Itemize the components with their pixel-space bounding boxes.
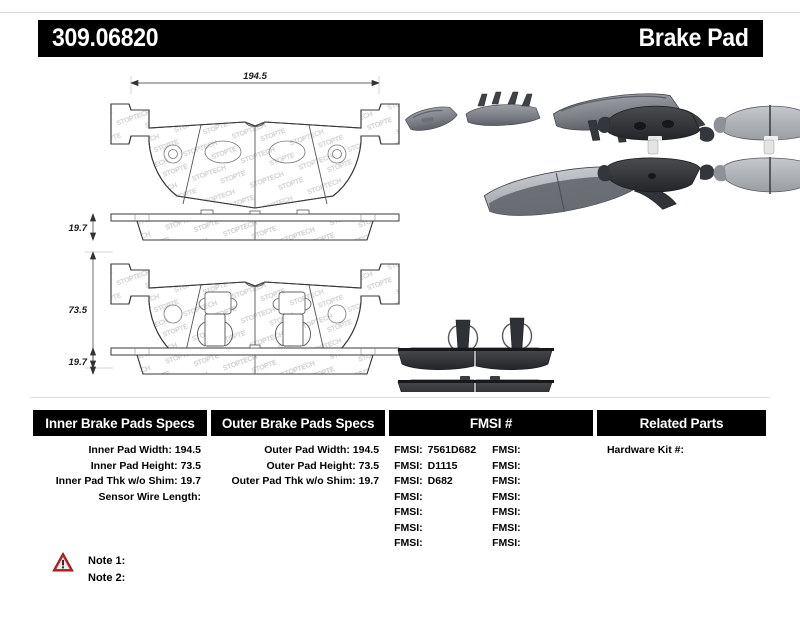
fmsi-row: FMSI:7561D682 <box>389 443 487 459</box>
fmsi-label: FMSI: <box>492 460 521 472</box>
fmsi-row: FMSI: <box>389 536 487 552</box>
fmsi-value <box>423 491 428 503</box>
column-header-outer-specs: Outer Brake Pads Specs <box>211 410 385 436</box>
fmsi-value <box>521 460 526 472</box>
fmsi-label: FMSI: <box>394 537 423 549</box>
dimension-bottom-height: 73.5 <box>69 305 88 316</box>
fmsi-row: FMSI: <box>389 505 487 521</box>
table-header-row: Inner Brake Pads Specs Outer Brake Pads … <box>33 410 766 436</box>
inner-specs-column: Inner Pad Width: 194.5 Inner Pad Height:… <box>33 443 207 552</box>
fmsi-label: FMSI: <box>492 491 521 503</box>
fmsi-column: FMSI:7561D682 FMSI:D1115 FMSI:D682 FMSI:… <box>389 443 593 552</box>
fmsi-label: FMSI: <box>492 506 521 518</box>
fmsi-row: FMSI: <box>487 443 585 459</box>
spec-sensor-wire-length: Sensor Wire Length: <box>33 490 207 506</box>
fmsi-value: D682 <box>423 475 453 487</box>
page-title: Brake Pad <box>639 24 749 53</box>
fmsi-value <box>521 522 526 534</box>
fmsi-label: FMSI: <box>394 522 423 534</box>
note-2: Note 2: <box>88 570 125 587</box>
dimension-top-width: 194.5 <box>243 71 267 82</box>
fmsi-row: FMSI:D682 <box>389 474 487 490</box>
fmsi-label: FMSI: <box>492 444 521 456</box>
fmsi-row: FMSI: <box>487 536 585 552</box>
fmsi-row: FMSI: <box>487 521 585 537</box>
fmsi-label: FMSI: <box>492 537 521 549</box>
note-text-group: Note 1: Note 2: <box>88 552 125 587</box>
spec-inner-pad-width: Inner Pad Width: 194.5 <box>33 443 207 459</box>
fmsi-row: FMSI: <box>487 474 585 490</box>
dimension-bottom-thickness: 19.7 <box>69 357 88 368</box>
fmsi-value <box>521 491 526 503</box>
spec-outer-pad-width: Outer Pad Width: 194.5 <box>211 443 385 459</box>
column-header-related-parts: Related Parts <box>597 410 766 436</box>
fmsi-value: D1115 <box>423 460 458 472</box>
spec-outer-pad-thickness: Outer Pad Thk w/o Shim: 19.7 <box>211 474 385 490</box>
note-1: Note 1: <box>88 553 125 570</box>
table-top-divider <box>30 397 770 398</box>
fmsi-value <box>521 444 526 456</box>
fmsi-value: 7561D682 <box>423 444 476 456</box>
fmsi-label: FMSI: <box>394 491 423 503</box>
fmsi-row: FMSI: <box>389 521 487 537</box>
fmsi-subcolumn-2: FMSI: FMSI: FMSI: FMSI: FMSI: FMSI: FMSI… <box>487 443 585 552</box>
fmsi-value <box>521 475 526 487</box>
fmsi-value <box>521 537 526 549</box>
warning-triangle-icon <box>52 552 74 577</box>
fmsi-label: FMSI: <box>492 475 521 487</box>
notes-section: Note 1: Note 2: <box>52 552 125 587</box>
top-divider <box>0 12 800 13</box>
related-parts-column: Hardware Kit #: <box>597 443 766 552</box>
header-bar: 309.06820 Brake Pad <box>38 20 763 57</box>
fmsi-row: FMSI: <box>487 505 585 521</box>
spec-inner-pad-thickness: Inner Pad Thk w/o Shim: 19.7 <box>33 474 207 490</box>
fmsi-row: FMSI: <box>487 459 585 475</box>
fmsi-value <box>423 537 428 549</box>
fmsi-subcolumn-1: FMSI:7561D682 FMSI:D1115 FMSI:D682 FMSI:… <box>389 443 487 552</box>
fmsi-row: FMSI: <box>389 490 487 506</box>
dimension-top-thickness: 19.7 <box>69 223 88 234</box>
spec-outer-pad-height: Outer Pad Height: 73.5 <box>211 459 385 475</box>
technical-drawings: STOPTECH STOPTECH 194.5 <box>0 62 800 392</box>
fmsi-value <box>521 506 526 518</box>
column-header-inner-specs: Inner Brake Pads Specs <box>33 410 207 436</box>
fmsi-label: FMSI: <box>394 506 423 518</box>
fmsi-label: FMSI: <box>394 475 423 487</box>
fmsi-label: FMSI: <box>394 444 423 456</box>
fmsi-label: FMSI: <box>492 522 521 534</box>
spec-inner-pad-height: Inner Pad Height: 73.5 <box>33 459 207 475</box>
fmsi-row: FMSI: <box>487 490 585 506</box>
table-body: Inner Pad Width: 194.5 Inner Pad Height:… <box>33 436 766 552</box>
fmsi-value <box>423 522 428 534</box>
fmsi-value <box>423 506 428 518</box>
related-hardware-kit: Hardware Kit #: <box>597 443 766 459</box>
specifications-table: Inner Brake Pads Specs Outer Brake Pads … <box>33 410 766 552</box>
part-number: 309.06820 <box>52 24 158 53</box>
fmsi-row: FMSI:D1115 <box>389 459 487 475</box>
fmsi-label: FMSI: <box>394 460 423 472</box>
column-header-fmsi: FMSI # <box>389 410 593 436</box>
outer-specs-column: Outer Pad Width: 194.5 Outer Pad Height:… <box>211 443 385 552</box>
